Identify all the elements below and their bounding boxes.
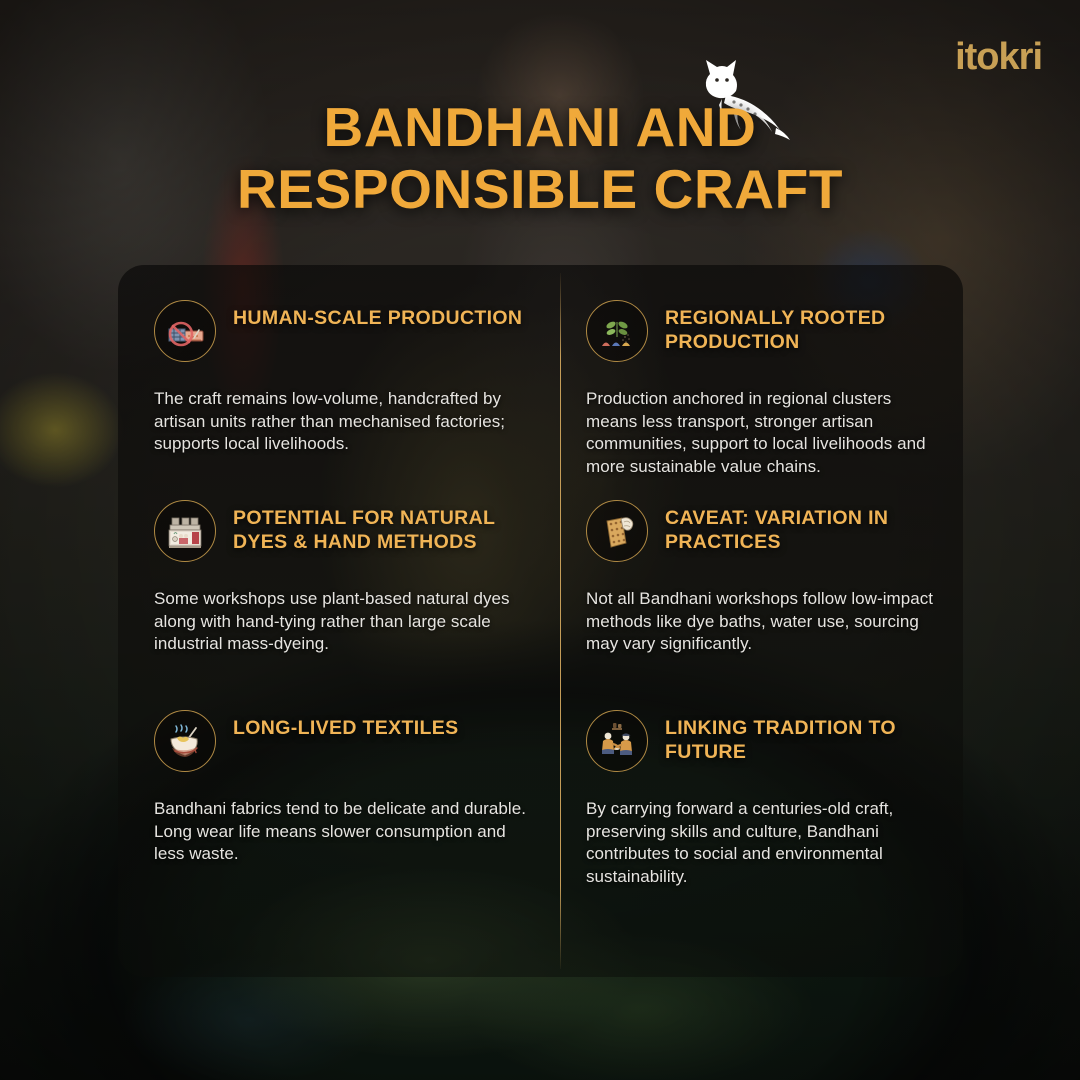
infographic-poster: BANDHANI AND RESPONSIBLE CRAFT itokri xyxy=(0,0,1080,1080)
card-long-lived-textiles: LONG-LIVED TEXTILES Bandhani fabrics ten… xyxy=(118,675,560,977)
card-regionally-rooted-production: REGIONALLY ROOTED PRODUCTION Production … xyxy=(560,265,963,465)
card-header: HUMAN-SCALE PRODUCTION xyxy=(154,300,538,362)
card-body: Some workshops use plant-based natural d… xyxy=(154,588,538,656)
card-title: POTENTIAL FOR NATURAL DYES & HAND METHOD… xyxy=(233,500,538,555)
cards-grid: HUMAN-SCALE PRODUCTION The craft remains… xyxy=(118,265,963,977)
card-caveat-variation-practices: CAVEAT: VARIATION IN PRACTICES Not all B… xyxy=(560,465,963,675)
card-linking-tradition-future: LINKING TRADITION TO FUTURE By carrying … xyxy=(560,675,963,977)
card-human-scale-production: HUMAN-SCALE PRODUCTION The craft remains… xyxy=(118,265,560,465)
card-body: Not all Bandhani workshops follow low-im… xyxy=(586,588,943,656)
card-potential-natural-dyes: POTENTIAL FOR NATURAL DYES & HAND METHOD… xyxy=(118,465,560,675)
steaming-dye-pot-icon xyxy=(154,710,216,772)
card-title: LINKING TRADITION TO FUTURE xyxy=(665,710,943,765)
content-panel: HUMAN-SCALE PRODUCTION The craft remains… xyxy=(118,265,963,977)
card-body: Bandhani fabrics tend to be delicate and… xyxy=(154,798,538,866)
seedling-natural-dye-powders-icon xyxy=(586,300,648,362)
card-header: CAVEAT: VARIATION IN PRACTICES xyxy=(586,500,943,562)
card-title: REGIONALLY ROOTED PRODUCTION xyxy=(665,300,943,355)
itokri-logo[interactable]: itokri xyxy=(955,38,1042,76)
title-line-2: RESPONSIBLE CRAFT xyxy=(170,158,910,220)
card-title: LONG-LIVED TEXTILES xyxy=(233,710,459,741)
card-header: POTENTIAL FOR NATURAL DYES & HAND METHOD… xyxy=(154,500,538,562)
card-header: LINKING TRADITION TO FUTURE xyxy=(586,710,943,772)
card-body: The craft remains low-volume, handcrafte… xyxy=(154,388,538,456)
card-title: HUMAN-SCALE PRODUCTION xyxy=(233,300,522,331)
two-artisans-working-icon xyxy=(586,710,648,772)
page-title: BANDHANI AND RESPONSIBLE CRAFT xyxy=(0,96,1080,220)
card-header: LONG-LIVED TEXTILES xyxy=(154,710,538,772)
card-header: REGIONALLY ROOTED PRODUCTION xyxy=(586,300,943,362)
card-title: CAVEAT: VARIATION IN PRACTICES xyxy=(665,500,943,555)
title-line-1: BANDHANI AND xyxy=(170,96,910,158)
hand-holding-patterned-fabric-icon xyxy=(586,500,648,562)
card-body: By carrying forward a centuries-old craf… xyxy=(586,798,943,888)
no-factory-machine-icon xyxy=(154,300,216,362)
artisan-workshop-building-icon xyxy=(154,500,216,562)
